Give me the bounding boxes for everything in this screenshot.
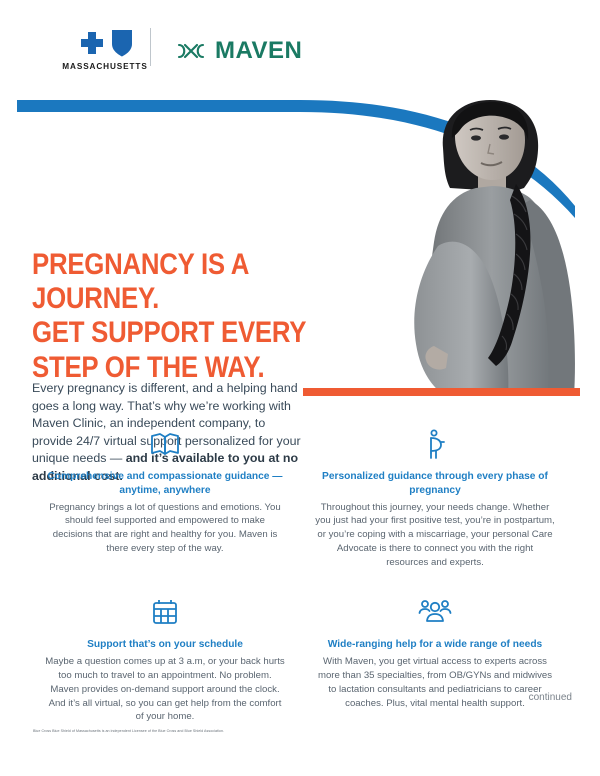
feature-title: Support that’s on your schedule	[45, 638, 285, 652]
logo-divider	[150, 28, 151, 66]
feature-body: Maybe a question comes up at 3 a.m, or y…	[45, 655, 285, 725]
bcbs-cross-shield-mark	[55, 28, 155, 58]
group-of-people-icon	[315, 596, 555, 628]
bcbs-wordmark: MASSACHUSETTS	[55, 62, 155, 71]
header-logo-bar: MASSACHUSETTS MAVEN	[0, 0, 600, 90]
hero-accent-bar	[303, 388, 580, 396]
calendar-icon	[45, 596, 285, 628]
page-headline: PREGNANCY IS A JOURNEY. GET SUPPORT EVER…	[32, 248, 316, 385]
pregnant-person-photo	[380, 96, 595, 396]
blue-cross-icon	[77, 30, 107, 58]
legal-disclaimer: Blue Cross Blue Shield of Massachusetts …	[33, 729, 224, 733]
bcbs-logo: MASSACHUSETTS	[55, 28, 155, 71]
feature-card-wide-ranging: Wide-ranging help for a wide range of ne…	[300, 586, 570, 724]
feature-body: With Maven, you get virtual access to ex…	[315, 655, 555, 711]
continued-label: continued	[529, 692, 572, 703]
feature-title: Wide-ranging help for a wide range of ne…	[315, 638, 555, 652]
maven-wordmark: MAVEN	[215, 37, 302, 65]
open-map-icon	[45, 428, 285, 460]
feature-body: Throughout this journey, your needs chan…	[315, 501, 555, 571]
hero-section: PREGNANCY IS A JOURNEY. GET SUPPORT EVER…	[0, 88, 600, 400]
feature-grid: Comprehensive and compassionate guidance…	[0, 418, 600, 724]
pregnant-person-icon	[315, 428, 555, 460]
feature-body: Pregnancy brings a lot of questions and …	[45, 501, 285, 557]
feature-card-personalized: Personalized guidance through every phas…	[300, 418, 570, 570]
feature-title: Personalized guidance through every phas…	[315, 470, 555, 498]
feature-row-1: Comprehensive and compassionate guidance…	[0, 418, 600, 570]
feature-title: Comprehensive and compassionate guidance…	[45, 470, 285, 498]
maven-logo: MAVEN	[176, 37, 302, 65]
feature-card-guidance: Comprehensive and compassionate guidance…	[30, 418, 300, 570]
maven-infinity-icon	[176, 41, 206, 61]
blue-shield-icon	[110, 28, 134, 58]
feature-row-2: Support that’s on your schedule Maybe a …	[0, 586, 600, 724]
feature-card-schedule: Support that’s on your schedule Maybe a …	[30, 586, 300, 724]
